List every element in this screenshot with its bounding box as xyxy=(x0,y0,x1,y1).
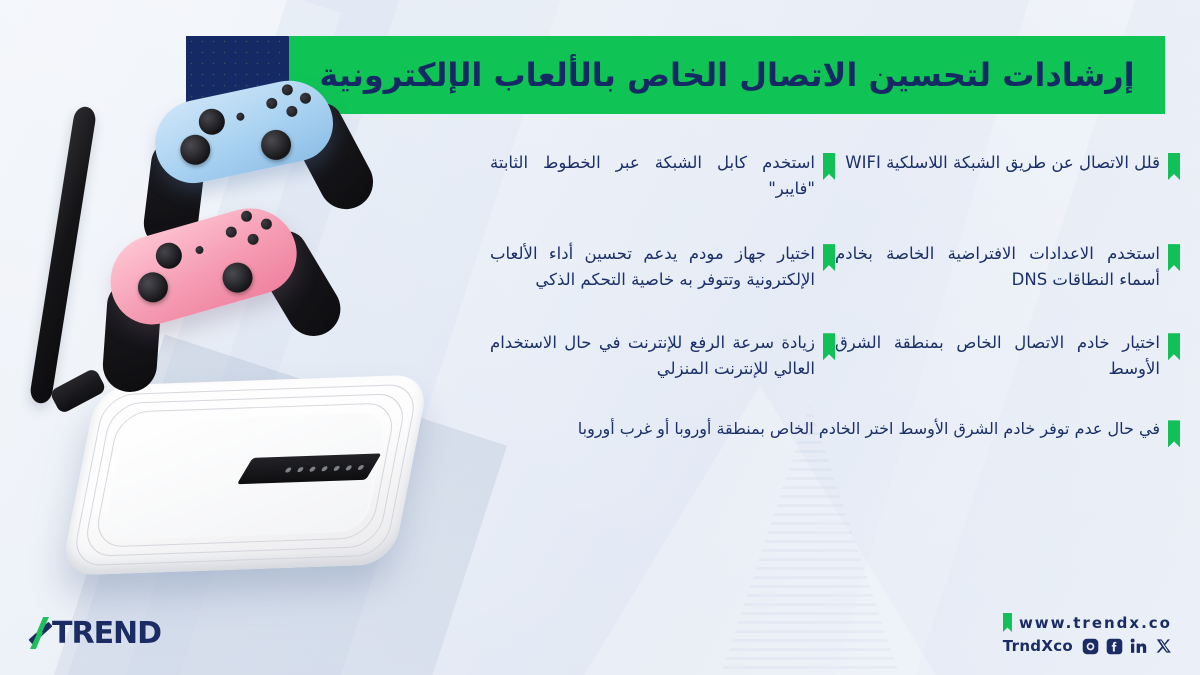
tips-row: في حال عدم توفر خادم الشرق الأوسط اختر ا… xyxy=(470,417,1180,447)
social-handle: TrndXco xyxy=(1003,637,1073,655)
tip-text: استخدم كابل الشبكة عبر الخطوط الثابتة "ف… xyxy=(490,150,815,201)
tip-item-right-1: استخدم كابل الشبكة عبر الخطوط الثابتة "ف… xyxy=(490,150,835,201)
bullet-flag-icon xyxy=(823,244,835,271)
controller-button xyxy=(260,217,274,231)
tips-row: قلل الاتصال عن طريق الشبكة اللاسلكية WIF… xyxy=(470,150,1180,201)
router-led xyxy=(333,465,341,470)
controller-button xyxy=(224,225,238,239)
controller-button xyxy=(195,245,205,255)
tip-item-right-3: زيادة سرعة الرفع للإنترنت في حال الاستخد… xyxy=(490,330,835,381)
controller-dpad xyxy=(153,240,185,272)
tip-text: قلل الاتصال عن طريق الشبكة اللاسلكية WIF… xyxy=(835,150,1160,176)
controller-button xyxy=(236,112,245,121)
tip-item-left-2: استخدم الاعدادات الافتراضية الخاصة بخادم… xyxy=(835,241,1180,292)
controller-stick xyxy=(219,259,256,296)
social-row: TrndXco xyxy=(1003,637,1172,655)
tips-grid: قلل الاتصال عن طريق الشبكة اللاسلكية WIF… xyxy=(470,150,1180,447)
bullet-flag-icon xyxy=(823,153,835,180)
infographic-canvas: إرشادات لتحسين الاتصال الخاص بالألعاب ال… xyxy=(0,0,1200,675)
controller-button xyxy=(299,92,312,105)
controller-dpad xyxy=(196,106,227,137)
instagram-icon[interactable] xyxy=(1082,638,1099,655)
tip-text: اختيار خادم الاتصال الخاص بمنطقة الشرق ا… xyxy=(835,330,1160,381)
controller-button xyxy=(246,233,260,247)
tip-item-full-width: في حال عدم توفر خادم الشرق الأوسط اختر ا… xyxy=(480,417,1180,447)
tip-item-left-1: قلل الاتصال عن طريق الشبكة اللاسلكية WIF… xyxy=(835,150,1180,201)
footer-contact: www.trendx.co TrndXco xyxy=(1003,613,1172,655)
hero-illustration xyxy=(0,60,460,620)
controller-stick xyxy=(134,269,171,306)
bullet-flag-icon xyxy=(1168,244,1180,271)
tip-text: في حال عدم توفر خادم الشرق الأوسط اختر ا… xyxy=(480,417,1160,442)
router-led xyxy=(321,466,329,471)
brand-logo: TREND xyxy=(28,613,161,653)
bullet-flag-icon xyxy=(1003,613,1012,632)
router-led xyxy=(285,467,293,472)
bullet-flag-icon xyxy=(1168,420,1180,447)
bullet-flag-icon xyxy=(1168,153,1180,180)
tip-text: اختيار جهاز مودم يدعم تحسين أداء الألعاب… xyxy=(490,241,815,292)
controller-stick xyxy=(178,132,214,168)
controller-button xyxy=(240,209,254,223)
router-led xyxy=(297,466,305,471)
router-led xyxy=(357,464,365,469)
logo-wordmark: TREND xyxy=(52,616,161,651)
router-led xyxy=(309,466,317,471)
tips-row: اختيار خادم الاتصال الخاص بمنطقة الشرق ا… xyxy=(470,330,1180,381)
controller-button xyxy=(265,97,278,110)
linkedin-icon[interactable] xyxy=(1130,638,1149,655)
tip-item-left-3: اختيار خادم الاتصال الخاص بمنطقة الشرق ا… xyxy=(835,330,1180,381)
facebook-icon[interactable] xyxy=(1106,638,1123,655)
website-url[interactable]: www.trendx.co xyxy=(1019,614,1172,632)
tip-text: زيادة سرعة الرفع للإنترنت في حال الاستخد… xyxy=(490,330,815,381)
bullet-flag-icon xyxy=(1168,333,1180,360)
tip-item-right-2: اختيار جهاز مودم يدعم تحسين أداء الألعاب… xyxy=(490,241,835,292)
router-led-strip xyxy=(237,453,382,484)
wifi-router xyxy=(60,374,430,575)
controller-button xyxy=(285,105,298,118)
game-controller-pink xyxy=(80,190,344,389)
x-icon[interactable] xyxy=(1156,638,1172,654)
website-row[interactable]: www.trendx.co xyxy=(1003,613,1172,632)
tip-text: استخدم الاعدادات الافتراضية الخاصة بخادم… xyxy=(835,241,1160,292)
controller-button xyxy=(281,83,294,96)
router-led xyxy=(345,465,353,470)
controller-stick xyxy=(258,127,294,163)
tips-section: قلل الاتصال عن طريق الشبكة اللاسلكية WIF… xyxy=(470,150,1180,540)
logo-x-mark-icon xyxy=(28,618,54,648)
tips-row: استخدم الاعدادات الافتراضية الخاصة بخادم… xyxy=(470,241,1180,292)
bullet-flag-icon xyxy=(823,333,835,360)
